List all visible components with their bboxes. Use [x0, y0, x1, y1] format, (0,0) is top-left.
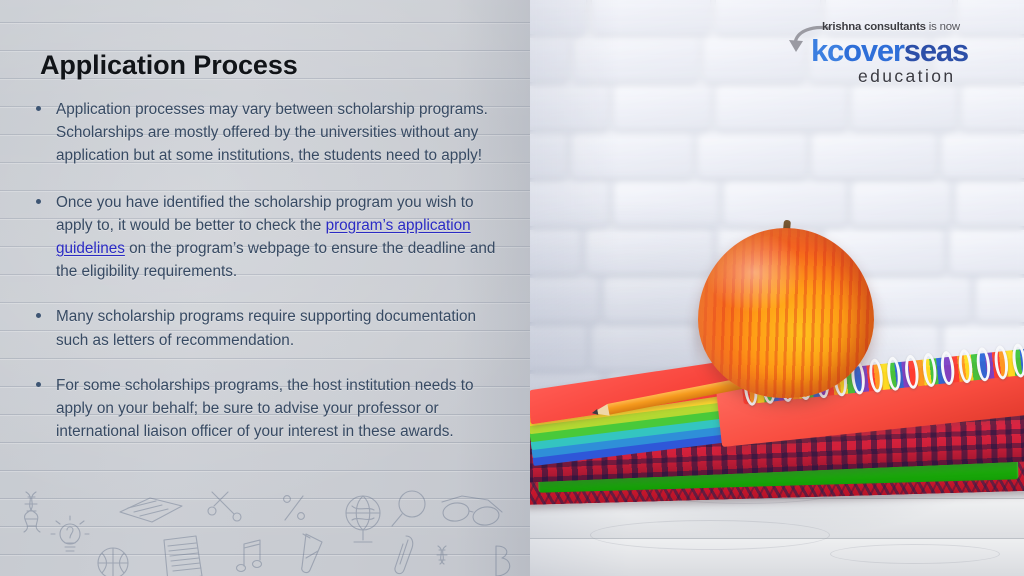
- percent-icon: [284, 496, 305, 520]
- logo-brand-seas: seas: [904, 33, 968, 68]
- scissors-icon: [208, 492, 241, 521]
- basketball-icon: [98, 548, 128, 576]
- list-item: Once you have identified the scholarship…: [28, 191, 506, 284]
- stationery-photo: krishna consultants is now kcoverseas ed…: [530, 0, 1024, 576]
- letter-b-icon: [496, 546, 510, 576]
- list-item: For some scholarships programs, the host…: [28, 374, 506, 444]
- logo-tagline-bold: krishna consultants: [822, 21, 926, 33]
- dna-helix-icon: [24, 492, 40, 532]
- bullet-3-text: Many scholarship programs require suppor…: [56, 308, 476, 348]
- paperclip-icon: [395, 536, 413, 574]
- book-icon: [120, 498, 182, 522]
- lightbulb-icon: [51, 516, 89, 551]
- logo-tagline-light: is now: [929, 21, 960, 33]
- magnifier-icon: [392, 491, 425, 526]
- list-item: Application processes may vary between s…: [28, 98, 506, 168]
- logo-brand-over: over: [843, 33, 904, 68]
- slide: Application Process Application processe…: [0, 0, 1024, 576]
- pencil-lead: [591, 409, 598, 416]
- apple: [698, 220, 874, 400]
- list-item: Many scholarship programs require suppor…: [28, 305, 506, 351]
- globe-icon: [346, 496, 380, 542]
- logo-subtitle: education: [858, 66, 956, 87]
- glasses-icon: [442, 496, 502, 527]
- bullet-dot-icon: [36, 382, 41, 387]
- test-tube-icon: [302, 534, 322, 573]
- page-title: Application Process: [40, 50, 298, 81]
- bullet-4-text: For some scholarships programs, the host…: [56, 377, 473, 440]
- logo-tagline: krishna consultants is now: [822, 21, 960, 33]
- bullet-dot-icon: [36, 313, 41, 318]
- apple-body: [698, 228, 874, 398]
- notepad-icon: [164, 536, 202, 576]
- bullet-dot-icon: [36, 199, 41, 204]
- logo-brand: kcoverseas: [811, 33, 968, 69]
- bullet-1-text: Application processes may vary between s…: [56, 101, 488, 164]
- bullet-list: Application processes may vary between s…: [28, 98, 506, 443]
- bullet-dot-icon: [36, 106, 41, 111]
- dna-small-icon: [437, 546, 447, 564]
- doodle-decoration-band: [0, 490, 530, 576]
- left-content-panel: Application Process Application processe…: [0, 0, 530, 576]
- kc-overseas-logo: krishna consultants is now kcoverseas ed…: [788, 18, 1004, 90]
- logo-brand-kc: kc: [811, 33, 843, 68]
- music-note-icon: [237, 540, 262, 572]
